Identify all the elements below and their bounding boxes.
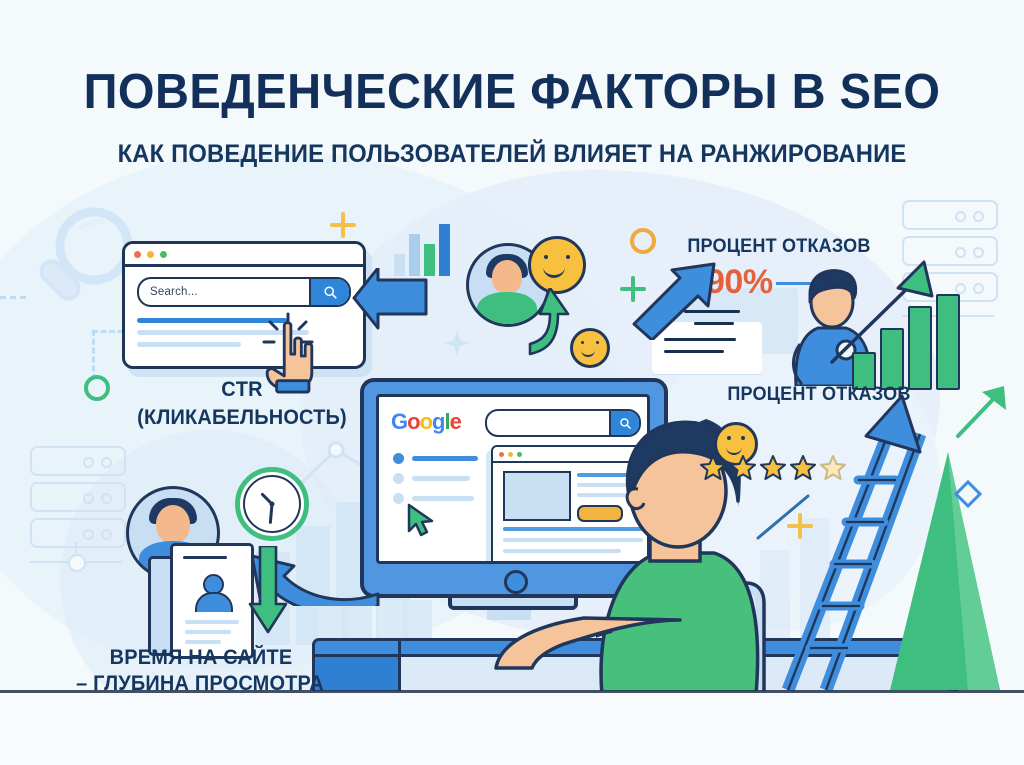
page-subtitle: КАК ПОВЕДЕНИЕ ПОЛЬЗОВАТЕЛЕЙ ВЛИЯЕТ НА РА… (26, 140, 999, 169)
yellow-plus-icon (330, 212, 356, 238)
logo-letter: e (450, 409, 461, 434)
result-line (412, 476, 470, 481)
smiley-face-icon (528, 236, 586, 294)
list-item[interactable] (393, 473, 478, 484)
dashed-connector (0, 296, 26, 299)
google-logo: Google (391, 409, 461, 435)
magnifier-icon (323, 285, 338, 300)
floor-area (0, 691, 1024, 765)
list-item[interactable] (393, 453, 478, 464)
page-title: ПОВЕДЕНЧЕСКИЕ ФАКТОРЫ В SEO (20, 64, 1003, 120)
star-icon-filled[interactable] (730, 455, 756, 481)
close-icon[interactable] (134, 251, 141, 258)
floor-line (0, 690, 1024, 693)
blue-curved-arrow-right (632, 262, 718, 340)
bullet-icon (393, 473, 404, 484)
ctr-label-line1: CTR (128, 378, 356, 402)
desk-seam (398, 641, 401, 692)
logo-letter: o (420, 409, 432, 434)
search-input-placeholder[interactable]: Search... (139, 286, 309, 298)
dashed-connector (92, 330, 95, 380)
green-up-arrow-icon (528, 288, 574, 360)
bounce-rate-label-top: ПРОЦЕНТ ОТКАЗОВ (677, 236, 880, 258)
result-line (412, 496, 474, 501)
logo-letter: G (391, 409, 407, 434)
infographic-canvas: ПОВЕДЕНЧЕСКИЕ ФАКТОРЫ В SEO КАК ПОВЕДЕНИ… (0, 0, 1024, 765)
monitor-power-button[interactable] (504, 570, 528, 594)
close-icon[interactable] (499, 452, 504, 457)
search-browser-window[interactable]: Search... (122, 241, 366, 369)
bounce-text-line (664, 350, 724, 353)
sparkle-icon (444, 330, 470, 356)
green-down-arrow-icon (248, 546, 288, 634)
clock-icon (235, 467, 309, 541)
maximize-icon[interactable] (517, 452, 522, 457)
smiley-face-icon (570, 328, 610, 368)
user-profile-card-icon (170, 543, 254, 659)
blue-arrow-left-icon (352, 268, 428, 346)
result-line[interactable] (137, 342, 241, 347)
image-placeholder (503, 471, 571, 521)
bullet-icon (393, 453, 404, 464)
bullet-icon (393, 493, 404, 504)
minimize-icon[interactable] (147, 251, 154, 258)
green-arrow-cursor (407, 503, 437, 537)
time-label-line1: ВРЕМЯ НА САЙТЕ (73, 646, 330, 670)
browser-titlebar (125, 244, 363, 267)
search-button[interactable] (309, 279, 349, 305)
star-icon-filled[interactable] (700, 455, 726, 481)
search-input-wrapper[interactable]: Search... (137, 277, 351, 307)
mini-bar-chart (392, 216, 452, 278)
logo-letter: o (407, 409, 419, 434)
person-forearm (492, 614, 682, 674)
logo-letter: g (432, 409, 444, 434)
result-line (412, 456, 478, 461)
green-circle-icon (84, 375, 110, 401)
green-growth-arrow-icon (828, 258, 944, 368)
green-growth-arrow-icon (952, 380, 1014, 444)
server-rack-icon (30, 446, 126, 554)
minimize-icon[interactable] (508, 452, 513, 457)
maximize-icon[interactable] (160, 251, 167, 258)
orange-circle-icon (630, 228, 656, 254)
background-grid (318, 600, 438, 642)
ctr-label-line2: (КЛИКАБЕЛЬНОСТЬ) (107, 406, 377, 430)
